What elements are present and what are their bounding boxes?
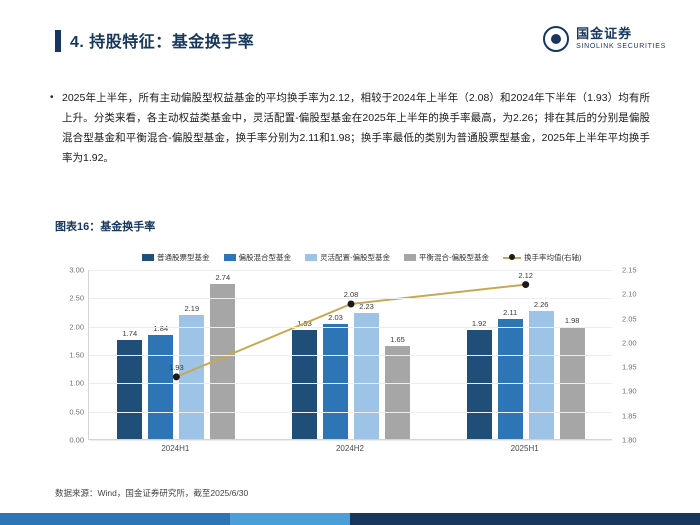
- gridline: [89, 412, 612, 413]
- y-tick-left: 1.00: [44, 379, 84, 388]
- y-axis-right: 1.801.851.901.952.002.052.102.15: [614, 270, 658, 440]
- legend-item-3: 平衡混合-偏股型基金: [404, 252, 489, 263]
- legend-color-box: [142, 254, 154, 261]
- footer-accent-2: [230, 513, 350, 525]
- legend-label: 灵活配置-偏股型基金: [320, 252, 390, 263]
- line-value-label: 2.08: [331, 290, 371, 299]
- line-marker: [173, 373, 180, 380]
- y-tick-right: 2.15: [622, 266, 662, 275]
- figure-source: 数据来源：Wind，国金证券研究所，截至2025/6/30: [55, 487, 248, 499]
- legend-label: 换手率均值(右轴): [524, 252, 582, 263]
- title-accent-bar: [55, 30, 61, 52]
- body-paragraph: • 2025年上半年，所有主动偏股型权益基金的平均换手率为2.12，相较于202…: [50, 88, 650, 168]
- y-tick-right: 1.90: [622, 387, 662, 396]
- y-tick-left: 0.50: [44, 407, 84, 416]
- x-tick-label: 2024H2: [290, 444, 410, 453]
- legend-line-marker: [503, 257, 521, 259]
- legend-label: 普通股票型基金: [157, 252, 210, 263]
- y-tick-right: 1.95: [622, 363, 662, 372]
- legend-label: 偏股混合型基金: [239, 252, 292, 263]
- legend-item-1: 偏股混合型基金: [224, 252, 292, 263]
- page-footer: [0, 513, 700, 525]
- y-tick-right: 2.00: [622, 338, 662, 347]
- legend-color-box: [404, 254, 416, 261]
- footer-accent-1: [0, 513, 230, 525]
- y-tick-left: 2.00: [44, 322, 84, 331]
- gridline: [89, 440, 612, 441]
- paragraph-text: 2025年上半年，所有主动偏股型权益基金的平均换手率为2.12，相较于2024年…: [62, 88, 650, 168]
- legend-item-2: 灵活配置-偏股型基金: [305, 252, 390, 263]
- legend-color-box: [224, 254, 236, 261]
- x-tick-label: 2025H1: [465, 444, 585, 453]
- page-header: 4. 持股特征：基金换手率 国金证券 SINOLINK SECURITIES: [0, 0, 700, 78]
- bullet-icon: •: [50, 88, 62, 168]
- gridline: [89, 327, 612, 328]
- line-value-label: 1.93: [156, 363, 196, 372]
- chart-legend: 普通股票型基金偏股混合型基金灵活配置-偏股型基金平衡混合-偏股型基金换手率均值(…: [142, 252, 612, 263]
- circle-logo-icon: [543, 26, 569, 52]
- gridline: [89, 355, 612, 356]
- y-tick-right: 2.10: [622, 290, 662, 299]
- legend-color-box: [305, 254, 317, 261]
- x-tick-label: 2024H1: [115, 444, 235, 453]
- y-tick-left: 0.00: [44, 436, 84, 445]
- logo-name-cn: 国金证券: [576, 27, 666, 40]
- y-axis-left: 0.000.501.001.502.002.503.00: [42, 270, 84, 440]
- y-tick-right: 1.80: [622, 436, 662, 445]
- line-marker: [522, 281, 529, 288]
- gridline: [89, 383, 612, 384]
- figure-title: 图表16：基金换手率: [55, 218, 155, 234]
- y-tick-right: 1.85: [622, 411, 662, 420]
- y-tick-left: 3.00: [44, 266, 84, 275]
- line-value-label: 2.12: [506, 271, 546, 280]
- legend-item-4: 换手率均值(右轴): [503, 252, 582, 263]
- line-marker: [348, 301, 355, 308]
- plot-area: 1.741.842.192.741.932.032.231.651.922.11…: [88, 270, 612, 440]
- legend-label: 平衡混合-偏股型基金: [419, 252, 489, 263]
- page-title: 4. 持股特征：基金换手率: [70, 28, 254, 52]
- logo-name-en: SINOLINK SECURITIES: [576, 42, 666, 52]
- chart-container: 普通股票型基金偏股混合型基金灵活配置-偏股型基金平衡混合-偏股型基金换手率均值(…: [42, 252, 658, 474]
- legend-item-0: 普通股票型基金: [142, 252, 210, 263]
- y-tick-left: 1.50: [44, 351, 84, 360]
- brand-logo: 国金证券 SINOLINK SECURITIES: [543, 26, 666, 52]
- y-tick-right: 2.05: [622, 314, 662, 323]
- y-tick-left: 2.50: [44, 294, 84, 303]
